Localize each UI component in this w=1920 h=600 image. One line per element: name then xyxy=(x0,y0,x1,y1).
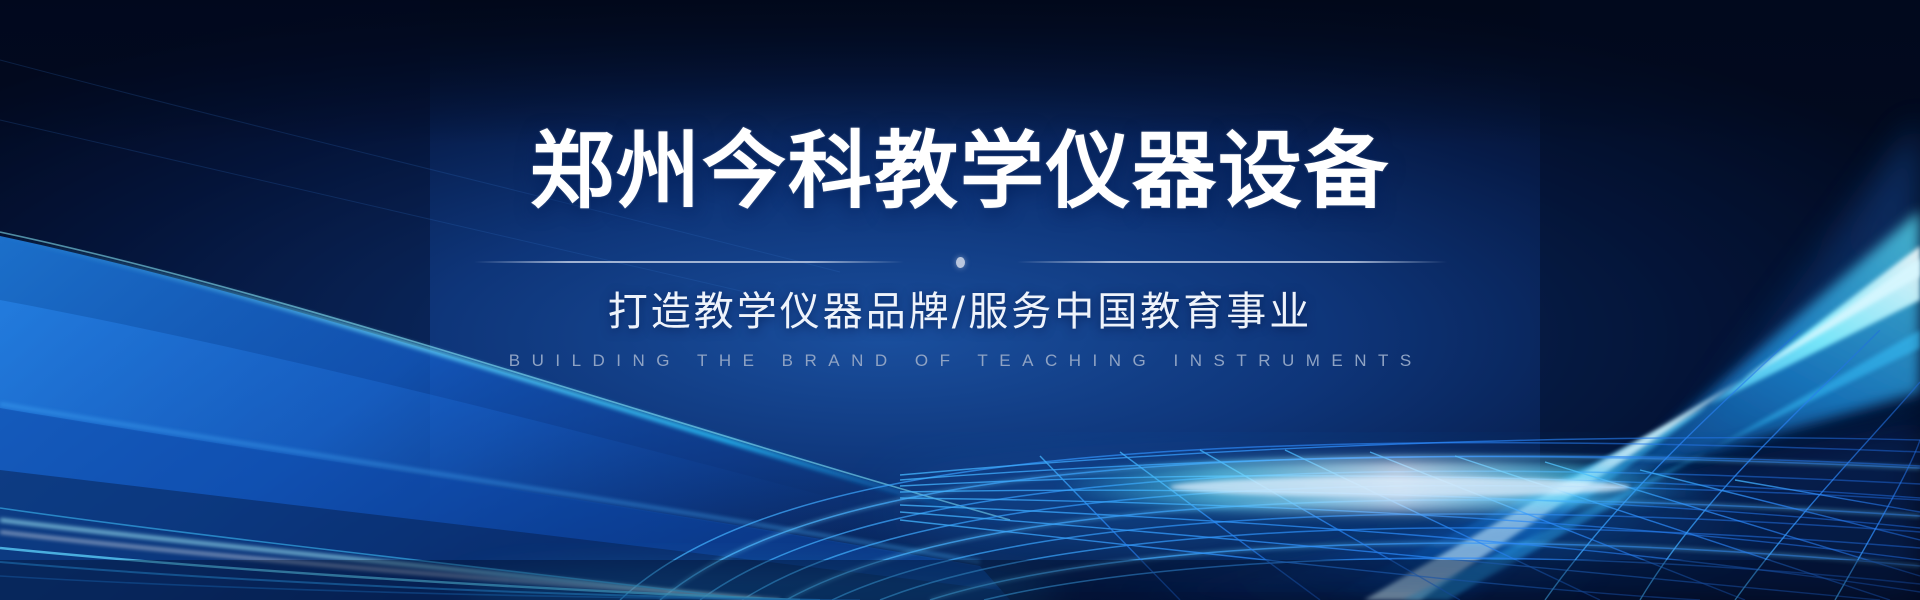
divider-line-left xyxy=(474,261,904,263)
title-divider xyxy=(465,255,1455,269)
banner-tagline-english: BUILDING THE BRAND OF TEACHING INSTRUMEN… xyxy=(497,351,1423,371)
page-title: 郑州今科教学仪器设备 xyxy=(530,129,1390,213)
divider-dot xyxy=(956,257,965,268)
hero-banner: 郑州今科教学仪器设备 打造教学仪器品牌/服务中国教育事业 BUILDING TH… xyxy=(0,0,1920,600)
divider-line-right xyxy=(1017,261,1447,263)
banner-subtitle: 打造教学仪器品牌/服务中国教育事业 xyxy=(608,289,1312,335)
banner-content: 郑州今科教学仪器设备 打造教学仪器品牌/服务中国教育事业 BUILDING TH… xyxy=(0,0,1920,600)
